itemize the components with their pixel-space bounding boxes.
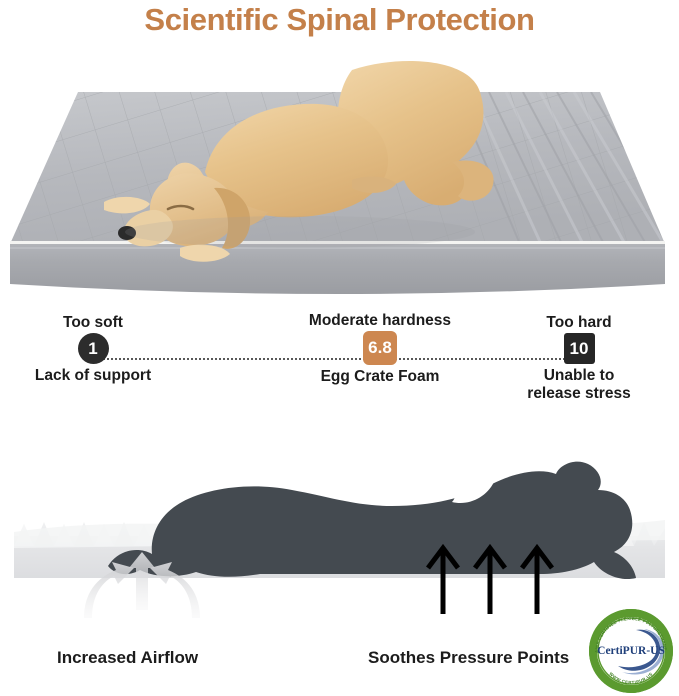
label-increased-airflow: Increased Airflow: [57, 648, 198, 668]
product-infographic: Scientific Spinal Protection: [0, 0, 679, 696]
scale-stop-top-label: Too hard: [506, 314, 652, 331]
label-soothes-pressure-points: Soothes Pressure Points: [368, 648, 569, 668]
scale-stop-bottom-label-line1: Unable to: [506, 367, 652, 385]
page-title: Scientific Spinal Protection: [0, 2, 679, 38]
scale-stop-bottom-label: Egg Crate Foam: [291, 368, 469, 386]
scale-stop-top-label: Moderate hardness: [291, 312, 469, 329]
scale-stop-bottom-label: Lack of support: [14, 367, 172, 385]
scale-value-badge-1: 1: [78, 333, 109, 364]
scale-stop-too-soft: Too soft 1 Lack of support: [14, 314, 172, 385]
product-photo: [0, 52, 679, 307]
foam-cross-section-diagram: [0, 428, 679, 628]
certipur-center-text: CertiPUR-US: [597, 645, 665, 657]
scale-stop-top-label: Too soft: [14, 314, 172, 331]
scale-stop-bottom-label-line2: release stress: [506, 385, 652, 403]
certipur-us-badge: CertiPUR-US CONTAINS CERTIFIED FLEXIBLE …: [588, 608, 674, 694]
scale-value-badge-68: 6.8: [363, 331, 397, 365]
hardness-scale: Too soft 1 Lack of support Moderate hard…: [0, 312, 679, 417]
scale-stop-moderate: Moderate hardness 6.8 Egg Crate Foam: [291, 312, 469, 386]
dog-silhouette: [108, 462, 636, 579]
scale-stop-too-hard: Too hard 10 Unable to release stress: [506, 314, 652, 402]
scale-value-badge-10: 10: [564, 333, 595, 364]
